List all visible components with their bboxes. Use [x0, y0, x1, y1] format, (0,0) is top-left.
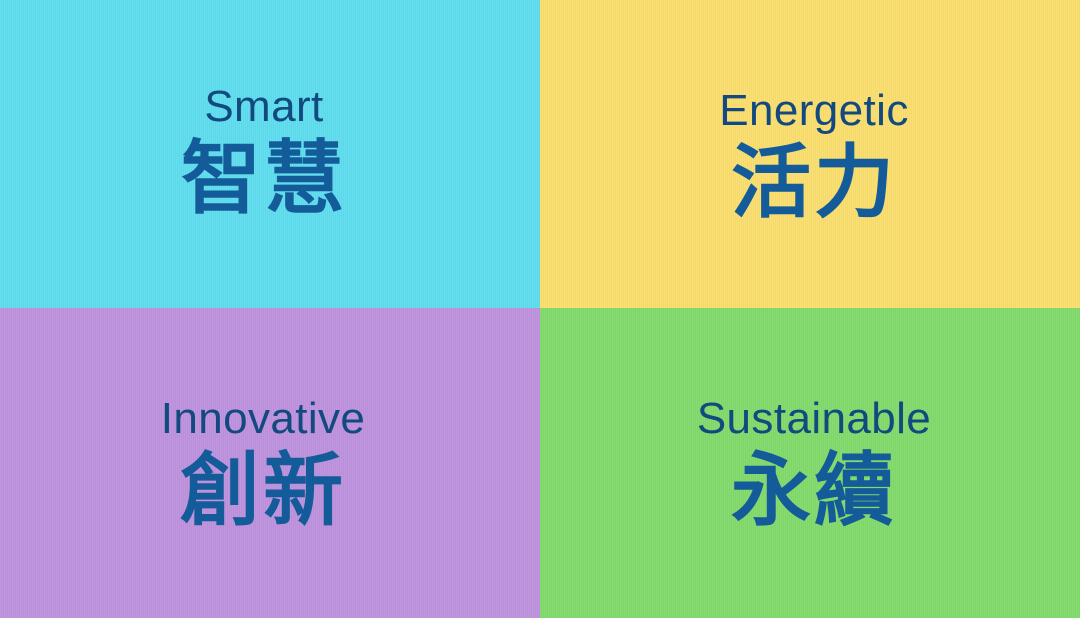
brand-card-sustainable[interactable]: Sustainable 永續	[540, 308, 1080, 618]
brand-label-en-sustainable: Sustainable	[697, 397, 931, 441]
brand-card-energetic[interactable]: Energetic 活力	[540, 0, 1080, 308]
brand-label-en-smart: Smart	[204, 85, 323, 129]
label-stack-smart: Smart 智慧	[181, 85, 347, 219]
label-stack-sustainable: Sustainable 永續	[697, 397, 931, 531]
brand-label-en-innovative: Innovative	[161, 397, 366, 441]
label-stack-energetic: Energetic 活力	[719, 89, 908, 223]
brand-card-innovative[interactable]: Innovative 創新	[0, 308, 540, 618]
brand-label-en-energetic: Energetic	[719, 89, 908, 133]
label-stack-innovative: Innovative 創新	[161, 397, 366, 531]
brand-label-zh-smart: 智慧	[181, 139, 347, 219]
brand-label-zh-sustainable: 永續	[731, 451, 897, 531]
brand-attribute-grid: Smart 智慧 Energetic 活力 Innovative 創新 Sust…	[0, 0, 1080, 618]
brand-label-zh-innovative: 創新	[180, 451, 346, 531]
brand-label-zh-energetic: 活力	[731, 143, 897, 223]
brand-card-smart[interactable]: Smart 智慧	[0, 0, 540, 308]
